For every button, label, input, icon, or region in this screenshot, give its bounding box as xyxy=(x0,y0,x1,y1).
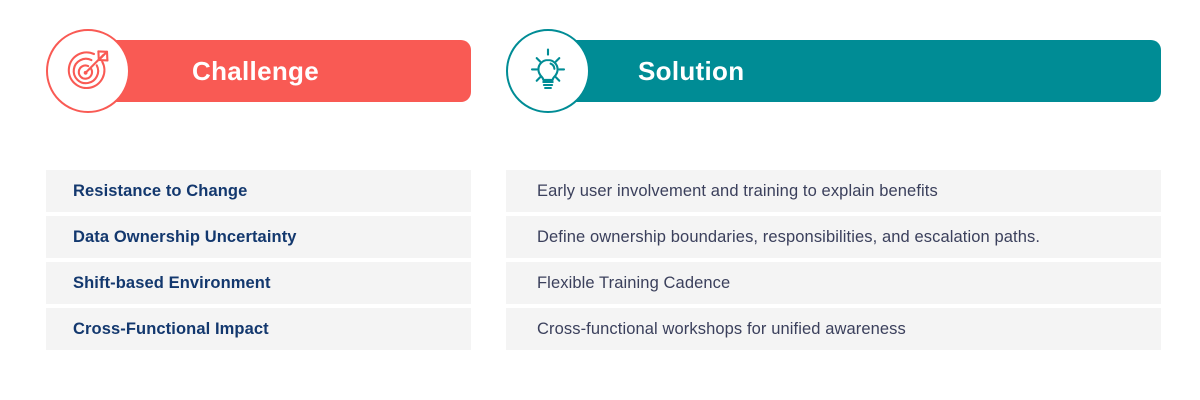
table-row[interactable]: Define ownership boundaries, responsibil… xyxy=(506,216,1161,258)
challenge-row-label: Cross-Functional Impact xyxy=(46,320,269,339)
challenge-title: Challenge xyxy=(192,58,319,84)
table-row[interactable]: Data Ownership Uncertainty xyxy=(46,216,471,258)
challenge-row-label: Data Ownership Uncertainty xyxy=(46,228,297,247)
solution-row-list: Early user involvement and training to e… xyxy=(506,170,1161,354)
table-row[interactable]: Resistance to Change xyxy=(46,170,471,212)
solution-row-label: Early user involvement and training to e… xyxy=(506,182,938,201)
table-row[interactable]: Flexible Training Cadence xyxy=(506,262,1161,304)
table-row[interactable]: Cross-Functional Impact xyxy=(46,308,471,350)
lightbulb-icon xyxy=(506,29,590,113)
target-icon xyxy=(46,29,130,113)
solution-row-label: Cross-functional workshops for unified a… xyxy=(506,320,906,339)
challenge-row-label: Shift-based Environment xyxy=(46,274,271,293)
table-row[interactable]: Early user involvement and training to e… xyxy=(506,170,1161,212)
challenge-row-label: Resistance to Change xyxy=(46,182,247,201)
solution-row-label: Flexible Training Cadence xyxy=(506,274,730,293)
solution-column: Solution xyxy=(506,0,1161,400)
solution-banner: Solution xyxy=(526,40,1161,102)
challenge-row-list: Resistance to Change Data Ownership Unce… xyxy=(46,170,471,354)
table-row[interactable]: Shift-based Environment xyxy=(46,262,471,304)
challenge-column: Challenge Resistance to Change xyxy=(46,0,471,400)
solution-row-label: Define ownership boundaries, responsibil… xyxy=(506,228,1040,247)
solution-title: Solution xyxy=(638,58,744,84)
table-row[interactable]: Cross-functional workshops for unified a… xyxy=(506,308,1161,350)
challenge-solution-board: Challenge Resistance to Change xyxy=(0,0,1200,400)
